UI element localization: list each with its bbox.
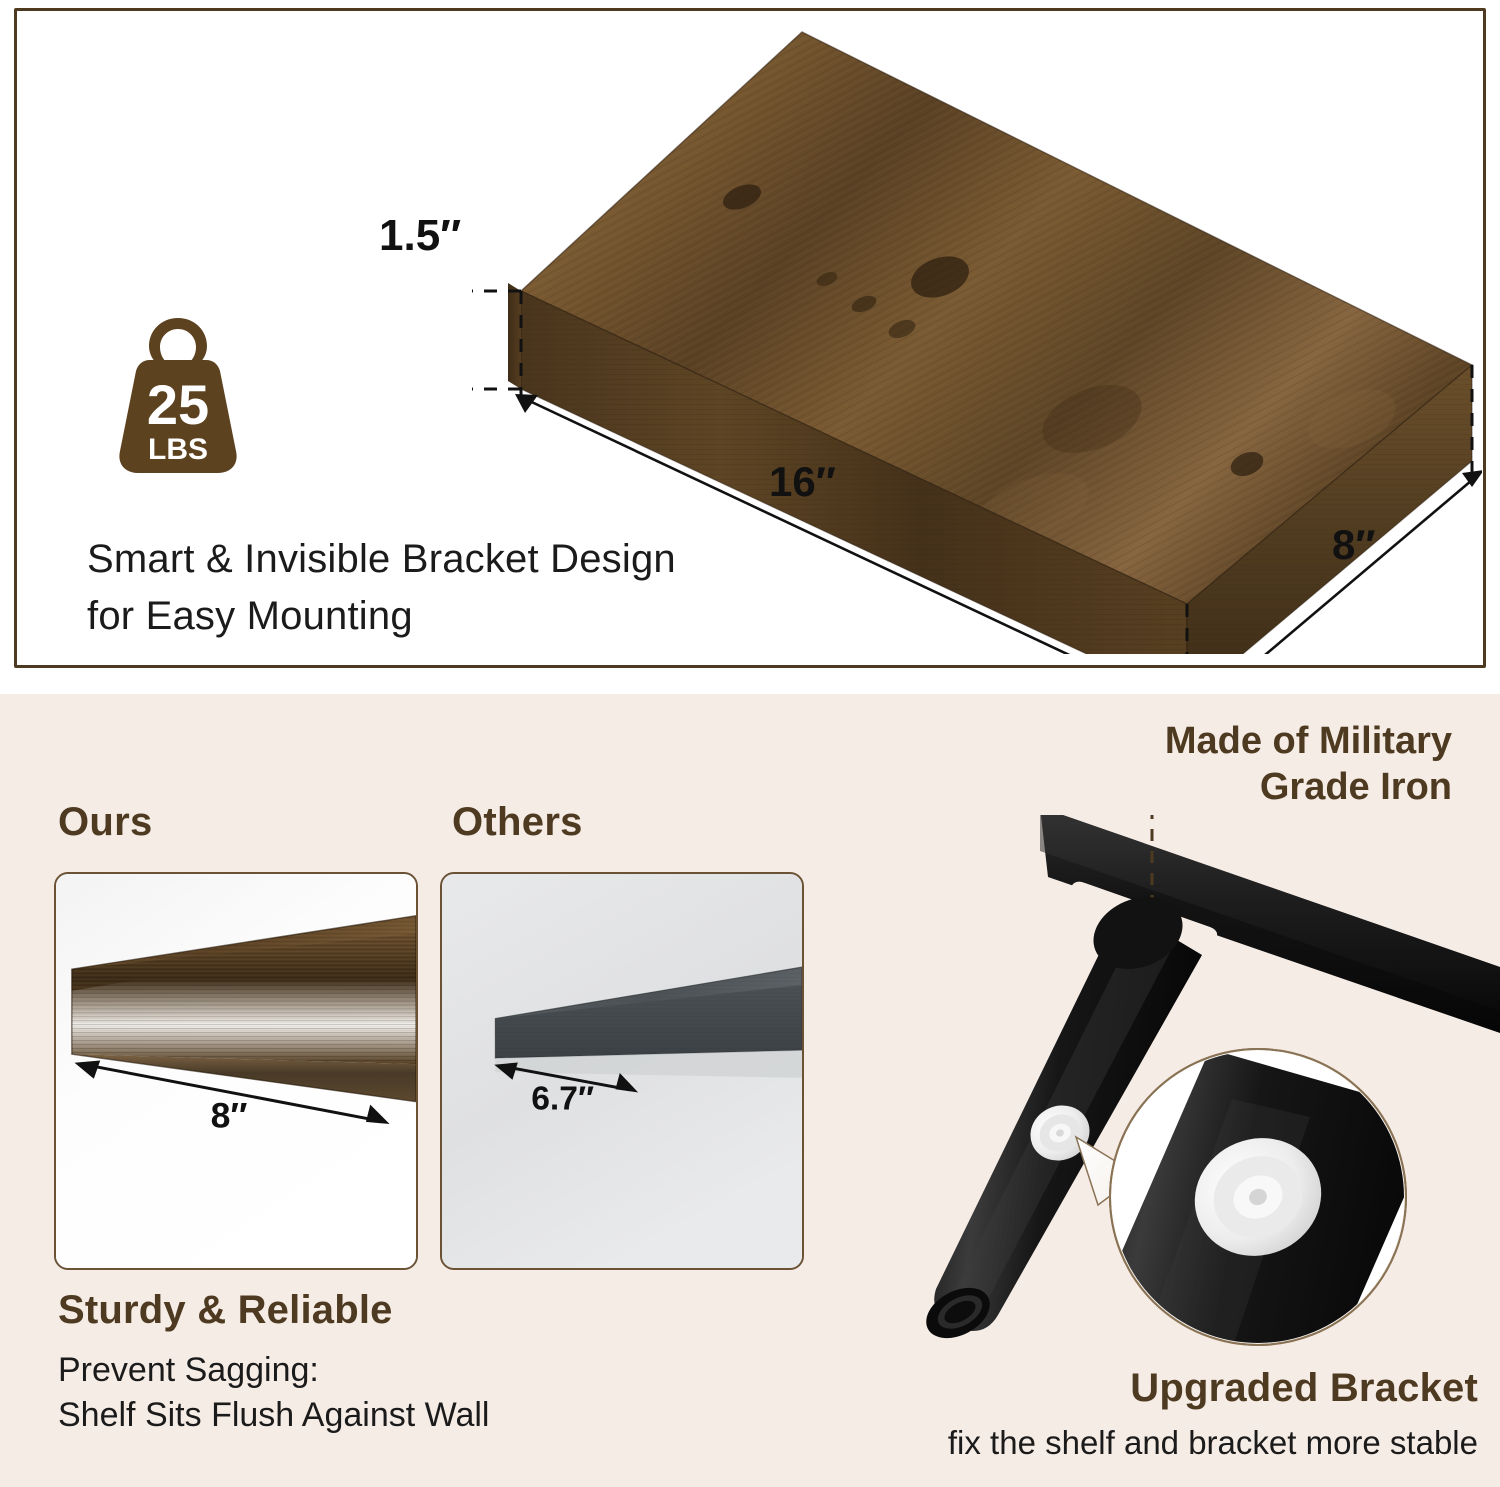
sturdy-body: Prevent Sagging: Shelf Sits Flush Agains… bbox=[58, 1348, 698, 1438]
military-line-2: Grade Iron bbox=[982, 764, 1452, 810]
weight-capacity-icon: 25 LBS bbox=[113, 316, 243, 476]
dimension-thickness-label: 1.5″ bbox=[379, 211, 461, 261]
bracket-illustration bbox=[880, 815, 1500, 1360]
others-dimension-text: 6.7″ bbox=[531, 1081, 594, 1118]
magnifier-contents bbox=[1068, 1049, 1440, 1360]
comparison-card-ours: 8″ bbox=[54, 872, 418, 1270]
dimension-length-label: 16″ bbox=[769, 458, 836, 506]
military-grade-heading: Made of Military Grade Iron bbox=[982, 718, 1452, 811]
ours-dimension-text: 8″ bbox=[211, 1095, 248, 1135]
military-line-1: Made of Military bbox=[982, 718, 1452, 764]
shelf-3d-illustration bbox=[472, 29, 1482, 654]
weight-value-text: 25 bbox=[147, 373, 209, 436]
product-infographic: 25 LBS Smart & Invisible Bracket Design … bbox=[0, 0, 1500, 1487]
dimension-depth-label: 8″ bbox=[1332, 521, 1375, 569]
sturdy-body-line-1: Prevent Sagging: bbox=[58, 1348, 698, 1393]
shelf-left-end-face bbox=[508, 283, 521, 389]
sturdy-heading: Sturdy & Reliable bbox=[58, 1288, 393, 1333]
top-feature-panel: 25 LBS Smart & Invisible Bracket Design … bbox=[14, 8, 1486, 668]
sturdy-body-line-2: Shelf Sits Flush Against Wall bbox=[58, 1393, 698, 1438]
upgraded-bracket-heading: Upgraded Bracket bbox=[1130, 1366, 1478, 1411]
comparison-ours-label: Ours bbox=[58, 800, 153, 845]
bracket-magnifier-callout bbox=[1068, 1049, 1440, 1360]
comparison-card-others: 6.7″ bbox=[440, 872, 804, 1270]
upgraded-bracket-subtext: fix the shelf and bracket more stable bbox=[948, 1424, 1478, 1462]
comparison-others-label: Others bbox=[452, 800, 583, 845]
weight-unit-text: LBS bbox=[148, 433, 208, 466]
